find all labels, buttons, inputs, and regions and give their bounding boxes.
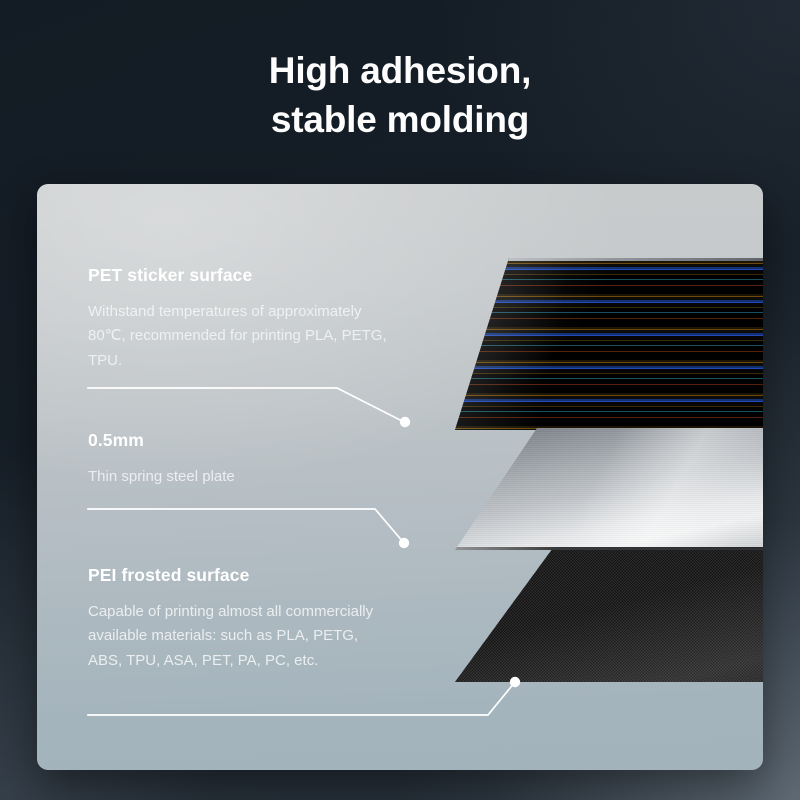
connector-line-steel <box>88 509 404 543</box>
connector-dot-steel <box>399 538 409 548</box>
pei-frosted-plate-image <box>455 548 763 682</box>
connector-line-pet <box>88 388 404 422</box>
layer-description-pet: Withstand temperatures of approximately … <box>88 300 388 373</box>
pei-sheen-overlay <box>455 548 763 682</box>
page-title: High adhesion, stable molding <box>0 46 800 144</box>
product-layer-card: PET sticker surface Withstand temperatur… <box>37 184 763 770</box>
connector-dot-pet <box>400 417 410 427</box>
layer-heading-steel: 0.5mm <box>88 430 388 451</box>
layer-heading-pet: PET sticker surface <box>88 265 388 286</box>
steel-specular-band <box>455 428 763 550</box>
layer-description-pei: Capable of printing almost all commercia… <box>88 600 388 673</box>
layer-info-pet: PET sticker surface Withstand temperatur… <box>88 265 388 373</box>
connector-line-pei <box>88 682 515 715</box>
spring-steel-plate-image <box>455 428 763 550</box>
pet-top-edge-highlight <box>455 258 763 261</box>
layer-heading-pei: PEI frosted surface <box>88 565 388 586</box>
layer-info-steel: 0.5mm Thin spring steel plate <box>88 430 388 489</box>
layer-info-pei: PEI frosted surface Capable of printing … <box>88 565 388 673</box>
page-title-line-2: stable molding <box>0 95 800 144</box>
pet-gloss-overlay <box>455 258 763 430</box>
layer-description-steel: Thin spring steel plate <box>88 465 388 489</box>
page-title-line-1: High adhesion, <box>0 46 800 95</box>
pet-sticker-plate-image <box>455 258 763 430</box>
